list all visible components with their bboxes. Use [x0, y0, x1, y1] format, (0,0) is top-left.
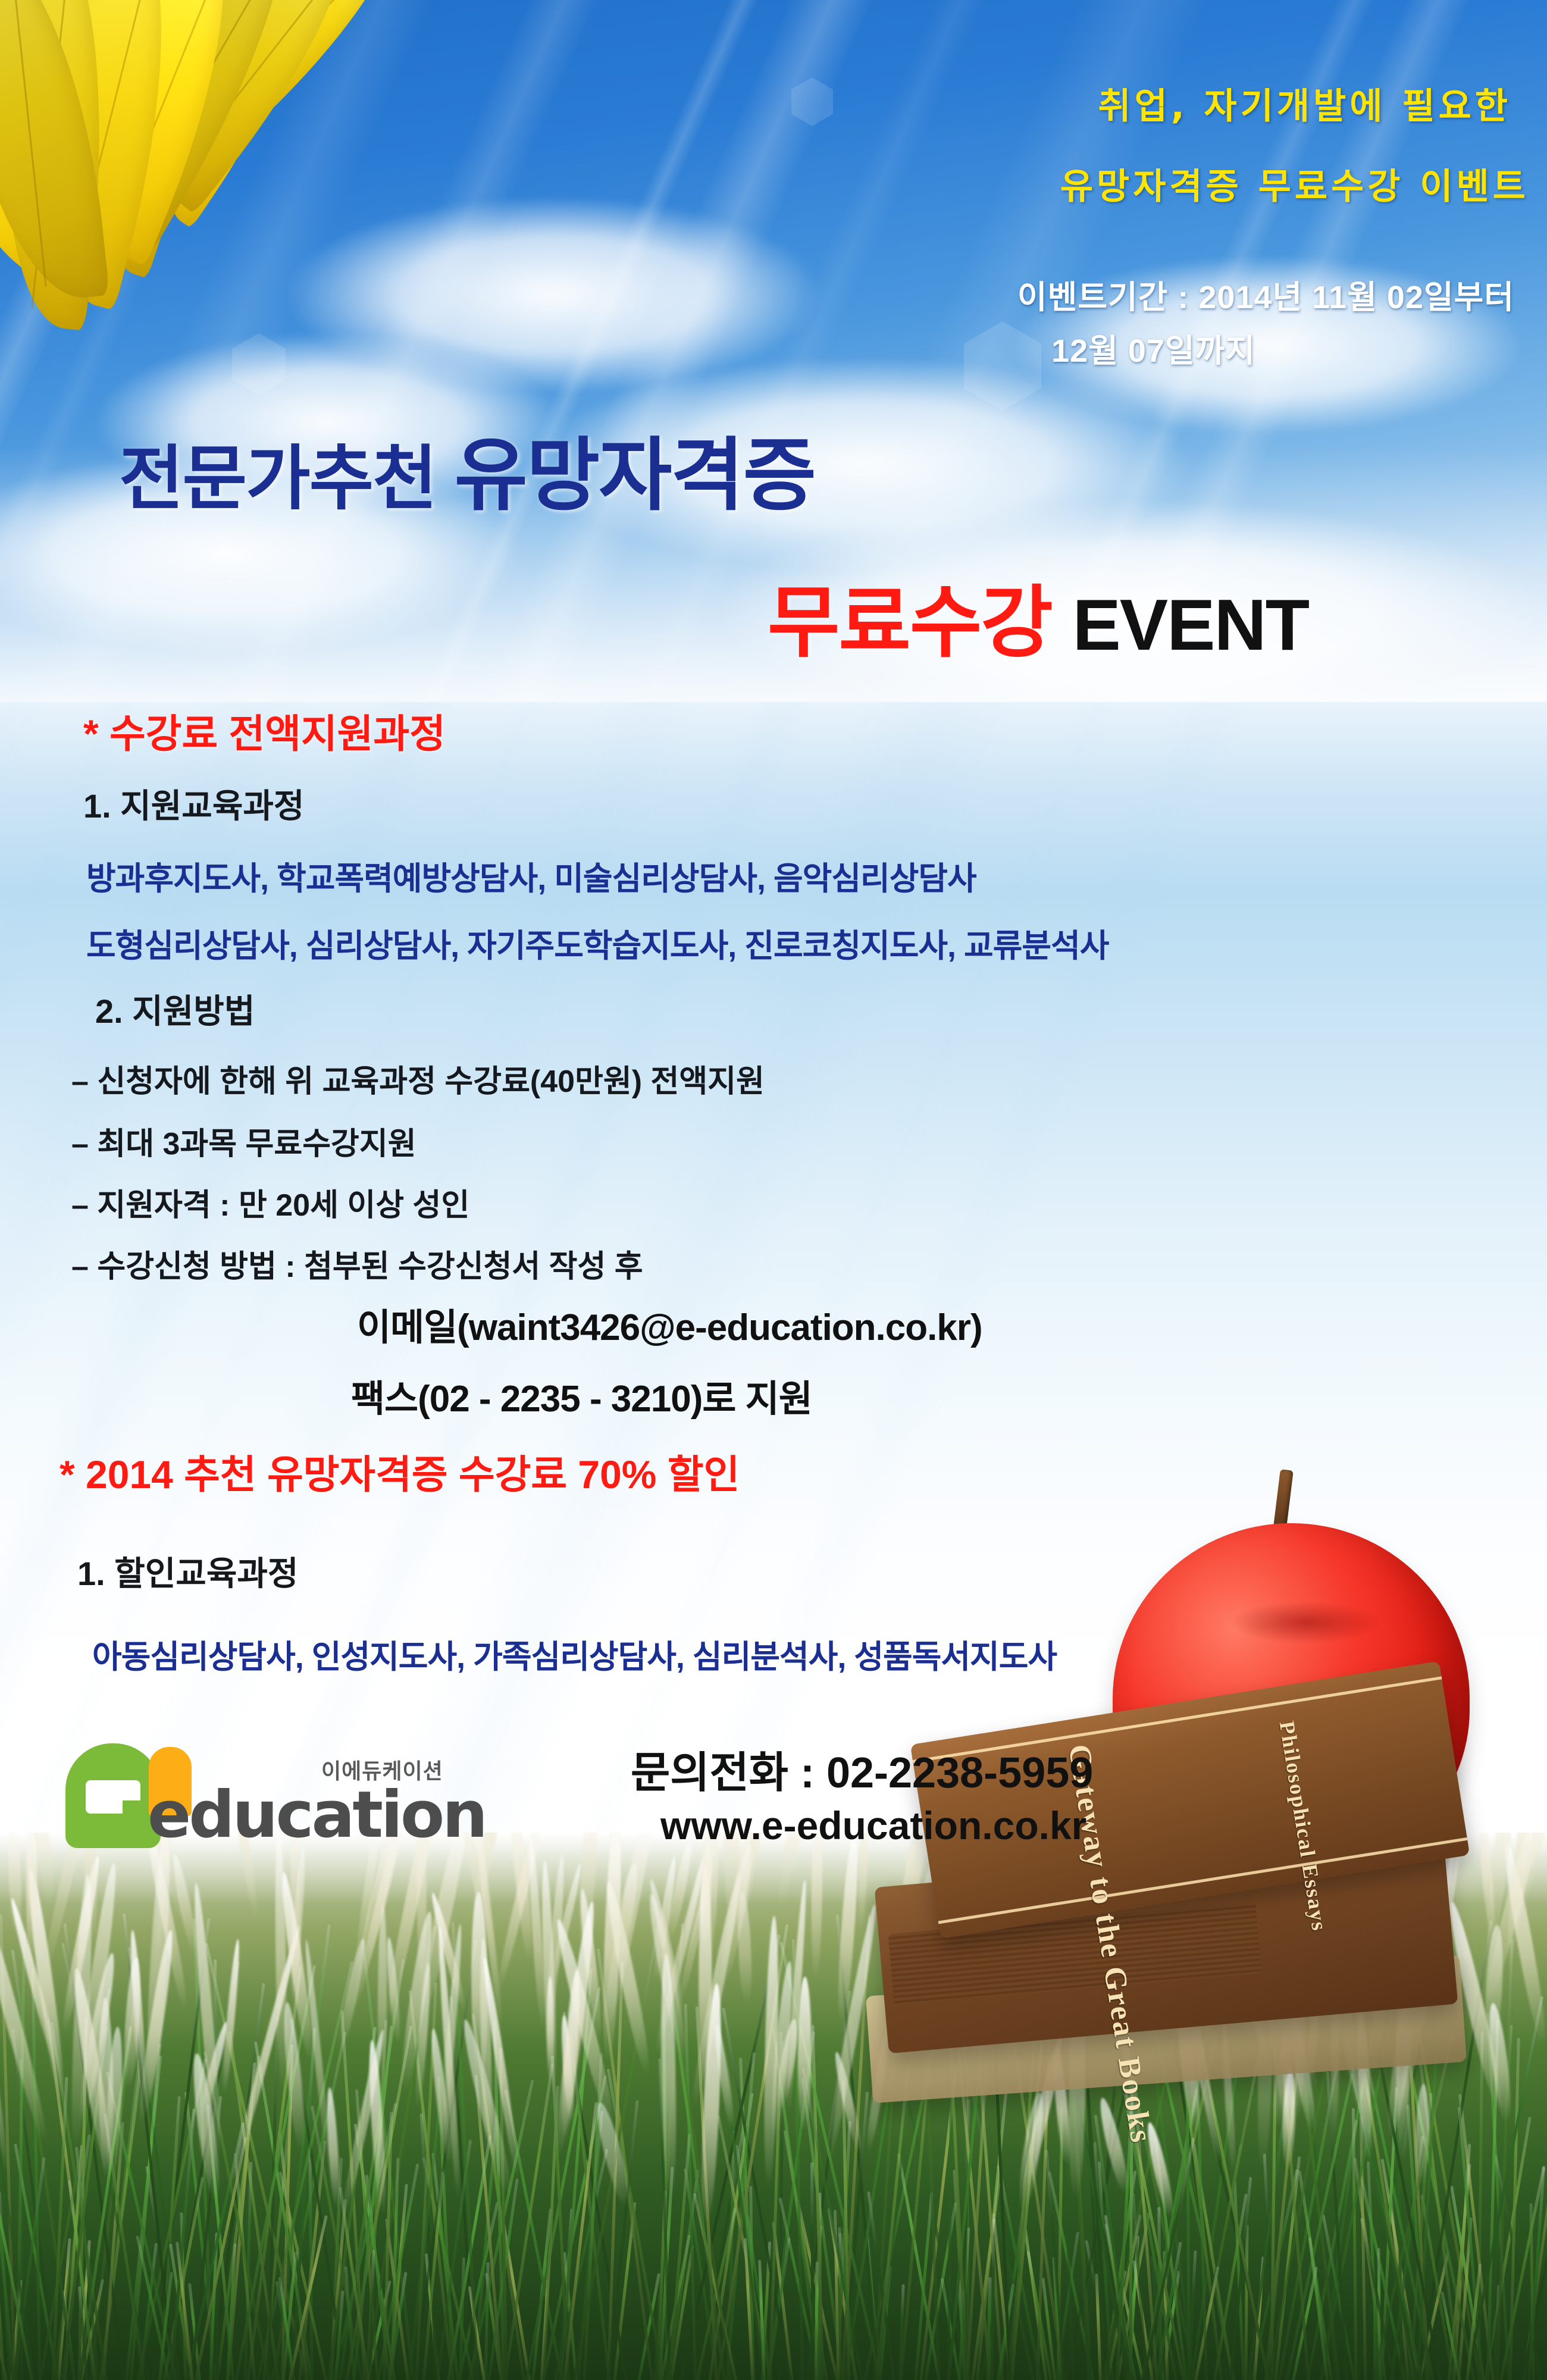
free-event-title: 무료수강 EVENT [768, 559, 1308, 673]
event-label: EVENT [1072, 584, 1308, 665]
application-email[interactable]: 이메일(waint3426@e-education.co.kr) [357, 1297, 982, 1351]
brand-logo[interactable]: education 이에듀케이션 [65, 1743, 458, 1856]
supported-courses-line-1: 방과후지도사, 학교폭력예방상담사, 미술심리상담사, 음악심리상담사 [86, 852, 976, 899]
logo-wordmark: education [148, 1778, 486, 1852]
contact-phone[interactable]: 문의전화 : 02-2238-5959 [631, 1737, 1093, 1800]
free-label: 무료수강 [768, 579, 1072, 666]
apply-bullet: – 최대 3과목 무료수강지원 [71, 1119, 416, 1163]
subsection-discount-courses-label: 1. 할인교육과정 [77, 1547, 298, 1595]
poster-content: 취업, 자기개발에 필요한 유망자격증 무료수강 이벤트 이벤트기간 : 201… [0, 0, 1547, 2380]
event-period-line-1: 이벤트기간 : 2014년 11월 02일부터 [1017, 271, 1514, 318]
promo-poster: Gateway to the Great Books Philosophical… [0, 0, 1547, 2380]
page-title-emphasis: 유망자격증 [455, 431, 815, 520]
contact-website[interactable]: www.e-education.co.kr [660, 1803, 1086, 1848]
headline-line-1: 취업, 자기개발에 필요한 [1098, 77, 1511, 129]
section-heading-full-support: * 수강료 전액지원과정 [83, 702, 446, 759]
event-period-line-2: 12월 07일까지 [1051, 324, 1255, 371]
subsection-supported-courses-label: 1. 지원교육과정 [83, 779, 304, 828]
logo-e-mark-icon [65, 1743, 161, 1848]
section-heading-discount: * 2014 추천 유망자격증 수강료 70% 할인 [59, 1443, 740, 1500]
headline-line-2: 유망자격증 무료수강 이벤트 [1060, 158, 1529, 209]
logo-korean-name: 이에듀케이션 [321, 1754, 443, 1785]
subsection-how-to-apply-label: 2. 지원방법 [95, 985, 255, 1033]
apply-bullet: – 신청자에 한해 위 교육과정 수강료(40만원) 전액지원 [71, 1056, 765, 1101]
page-title-prefix: 전문가추천 [119, 440, 455, 518]
apply-bullet: – 지원자격 : 만 20세 이상 성인 [71, 1180, 469, 1225]
supported-courses-line-2: 도형심리상담사, 심리상담사, 자기주도학습지도사, 진로코칭지도사, 교류분석… [86, 919, 1108, 966]
discount-courses-line-1: 아동심리상담사, 인성지도사, 가족심리상담사, 심리분석사, 성품독서지도사 [92, 1630, 1057, 1677]
apply-bullet: – 수강신청 방법 : 첨부된 수강신청서 작성 후 [71, 1241, 643, 1286]
page-title: 전문가추천 유망자격증 [119, 411, 815, 526]
application-fax: 팩스(02 - 2235 - 3210)로 지원 [351, 1368, 812, 1422]
